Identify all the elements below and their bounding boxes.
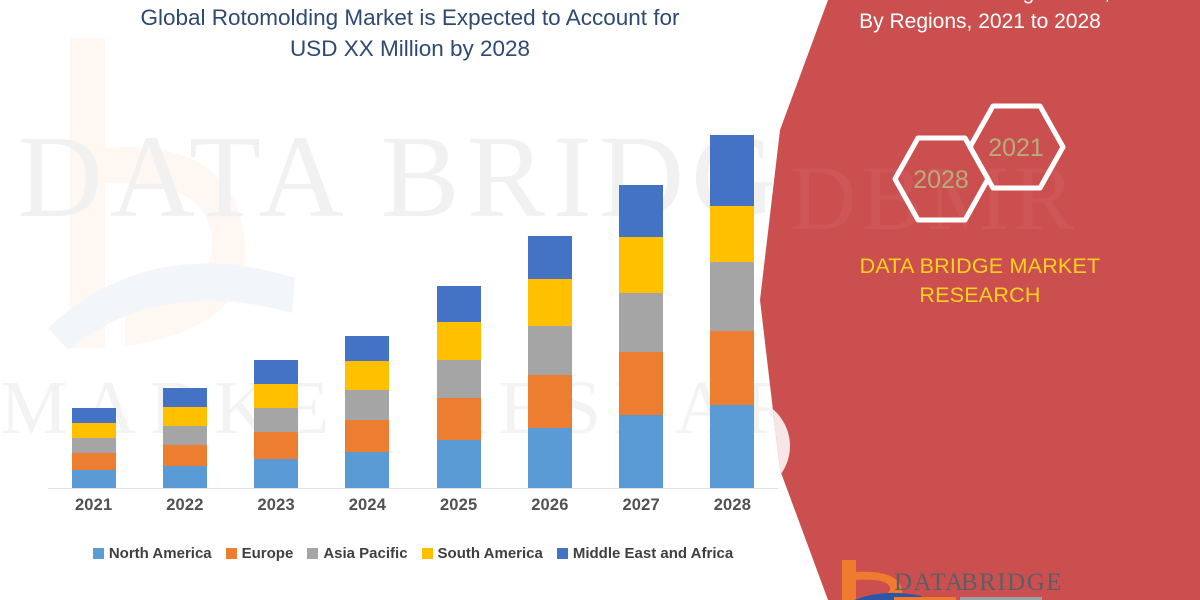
company-logo: DATA BRIDGE MARKET RESEARCH [836,556,1166,600]
hexagon-label-2021: 2021 [988,134,1044,162]
bar-segment-asia-pacific-2027[interactable] [619,293,663,352]
chart-legend: North AmericaEuropeAsia PacificSouth Ame… [48,540,778,566]
bar-column-2023[interactable] [231,95,322,488]
bar-segment-middle-east-and-africa-2023[interactable] [254,360,298,384]
bar-segment-north-america-2028[interactable] [710,405,754,488]
x-axis-label-2028: 2028 [687,496,778,515]
bar-segment-europe-2028[interactable] [710,331,754,405]
x-axis-label-2027: 2027 [596,496,687,515]
x-axis-label-2023: 2023 [231,496,322,515]
legend-label: Middle East and Africa [573,545,733,562]
chart-canvas: DATA BRIDGE MARKET RESEARCH Global Rotom… [0,0,1200,600]
legend-item-south-america[interactable]: South America [422,545,543,562]
panel-title: Global Rotomolding Market, By Regions, 2… [788,0,1172,36]
legend-swatch-icon [93,548,104,559]
brand-name: DATA BRIDGE MARKET RESEARCH [794,252,1166,310]
chart-title-line-2: USD XX Million by 2028 [60,33,760,64]
bar-segment-south-america-2021[interactable] [72,423,116,438]
bar-segment-asia-pacific-2022[interactable] [163,426,207,445]
bar-column-2026[interactable] [504,95,595,488]
x-axis-label-2022: 2022 [139,496,230,515]
logo-word-bridge: BRIDGE [961,569,1063,596]
bar-column-2022[interactable] [139,95,230,488]
bar-segment-europe-2027[interactable] [619,352,663,415]
bar-segment-north-america-2024[interactable] [345,452,389,488]
bar-stack [710,135,754,488]
bar-segment-europe-2024[interactable] [345,420,389,452]
bar-segment-middle-east-and-africa-2025[interactable] [437,286,481,322]
panel-title-line-2: By Regions, 2021 to 2028 [788,7,1172,36]
brand-panel: DBMR Global Rotomolding Market, By Regio… [760,0,1200,600]
bar-stack [528,236,572,488]
brand-name-line-2: RESEARCH [794,281,1166,310]
bar-segment-north-america-2025[interactable] [437,440,481,488]
bar-segment-asia-pacific-2024[interactable] [345,390,389,420]
legend-item-middle-east-and-africa[interactable]: Middle East and Africa [557,545,733,562]
bar-segment-europe-2021[interactable] [72,453,116,470]
bar-segment-south-america-2028[interactable] [710,206,754,262]
bar-column-2025[interactable] [413,95,504,488]
legend-item-north-america[interactable]: North America [93,545,212,562]
x-axis-label-2026: 2026 [504,496,595,515]
legend-label: Asia Pacific [323,545,407,562]
bar-group [48,95,778,488]
chart-title-line-1: Global Rotomolding Market is Expected to… [60,2,760,33]
bar-segment-europe-2023[interactable] [254,432,298,459]
legend-swatch-icon [422,548,433,559]
bar-segment-middle-east-and-africa-2022[interactable] [163,388,207,407]
bar-segment-asia-pacific-2028[interactable] [710,262,754,331]
bar-segment-north-america-2022[interactable] [163,466,207,488]
x-axis-label-2024: 2024 [322,496,413,515]
bar-segment-south-america-2022[interactable] [163,407,207,426]
bar-stack [254,360,298,488]
bar-segment-middle-east-and-africa-2026[interactable] [528,236,572,279]
legend-swatch-icon [557,548,568,559]
x-axis-label-2025: 2025 [413,496,504,515]
legend-item-asia-pacific[interactable]: Asia Pacific [307,545,407,562]
bar-segment-north-america-2023[interactable] [254,459,298,488]
bar-stack [619,185,663,488]
bar-segment-south-america-2023[interactable] [254,384,298,408]
bar-segment-europe-2022[interactable] [163,445,207,466]
panel-title-line-1: Global Rotomolding Market, [788,0,1172,7]
hexagon-label-2028: 2028 [913,166,969,194]
bar-segment-south-america-2027[interactable] [619,237,663,293]
bar-stack [345,336,389,488]
chart-panel: DATA BRIDGE MARKET RESEARCH Global Rotom… [0,0,880,600]
bar-stack [437,286,481,488]
bar-segment-asia-pacific-2025[interactable] [437,360,481,398]
chart-title: Global Rotomolding Market is Expected to… [60,2,760,64]
bar-segment-middle-east-and-africa-2028[interactable] [710,135,754,206]
bar-column-2024[interactable] [322,95,413,488]
bar-segment-north-america-2027[interactable] [619,415,663,488]
bar-segment-middle-east-and-africa-2021[interactable] [72,408,116,423]
legend-label: Europe [242,545,294,562]
bar-column-2021[interactable] [48,95,139,488]
bar-segment-south-america-2026[interactable] [528,279,572,326]
bar-stack [72,408,116,488]
x-axis-labels: 20212022202320242025202620272028 [48,496,778,526]
bar-segment-south-america-2025[interactable] [437,322,481,360]
bar-segment-middle-east-and-africa-2024[interactable] [345,336,389,361]
brand-name-line-1: DATA BRIDGE MARKET [794,252,1166,281]
bar-stack [163,388,207,488]
legend-swatch-icon [307,548,318,559]
legend-item-europe[interactable]: Europe [226,545,294,562]
bar-segment-asia-pacific-2021[interactable] [72,438,116,453]
bar-segment-middle-east-and-africa-2027[interactable] [619,185,663,237]
legend-label: North America [109,545,212,562]
bar-segment-asia-pacific-2023[interactable] [254,408,298,432]
bar-segment-north-america-2021[interactable] [72,470,116,488]
legend-swatch-icon [226,548,237,559]
x-axis-label-2021: 2021 [48,496,139,515]
bar-segment-south-america-2024[interactable] [345,361,389,390]
bar-segment-north-america-2026[interactable] [528,428,572,488]
legend-label: South America [438,545,543,562]
hexagon-graphic: 2021 2028 [878,92,1108,252]
logo-word-data: DATA [894,569,965,596]
bar-segment-europe-2026[interactable] [528,375,572,428]
bar-segment-asia-pacific-2026[interactable] [528,326,572,375]
bar-segment-europe-2025[interactable] [437,398,481,440]
x-axis-line [48,488,778,489]
bar-column-2027[interactable] [596,95,687,488]
